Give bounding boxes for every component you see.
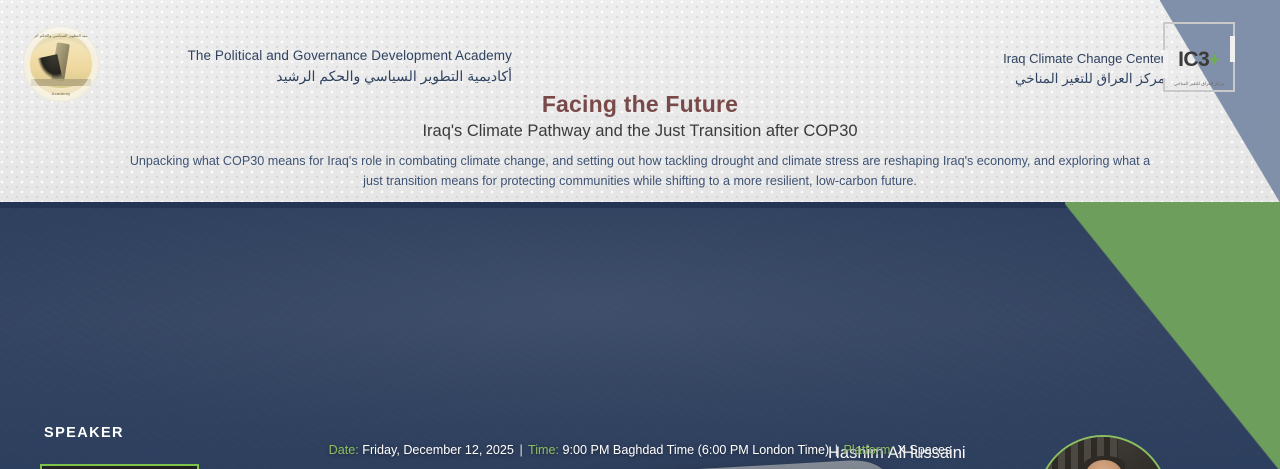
poster-header: أكاديمية التطوير السياسي والحكم الرشيد A… — [0, 0, 1280, 202]
ic3-plus-sign: + — [1209, 50, 1220, 71]
detail-separator: | — [833, 443, 840, 457]
center-name-block: Iraq Climate Change Center مركز العراق ل… — [865, 50, 1165, 88]
ic3-logo-subtitle: مركز العراق للتغير المناخي — [1163, 81, 1235, 87]
event-subtitle: Iraq's Climate Pathway and the Just Tran… — [0, 122, 1280, 141]
date-label: Date: — [329, 443, 359, 457]
ic3-mark-text: IC3 — [1178, 48, 1209, 71]
event-title: Facing the Future — [0, 91, 1280, 118]
time-value: 9:00 PM Baghdad Time (6:00 PM London Tim… — [563, 443, 830, 457]
boat-illustration — [328, 458, 891, 469]
academy-name-block: The Political and Governance Development… — [112, 47, 512, 87]
speaker-label: SPEAKER — [44, 425, 124, 441]
date-value: Friday, December 12, 2025 — [362, 443, 514, 457]
event-poster: أكاديمية التطوير السياسي والحكم الرشيد A… — [0, 0, 1280, 469]
poster-banner: SPEAKER IRAQ Yousif Muayad Yousif Direct… — [0, 202, 1280, 469]
speaker-photo: IRAQ — [40, 464, 199, 469]
academy-name-ar: أكاديمية التطوير السياسي والحكم الرشيد — [112, 66, 512, 86]
detail-separator: | — [517, 443, 524, 457]
event-details-line: Date: Friday, December 12, 2025 | Time: … — [0, 443, 1280, 457]
time-label: Time: — [528, 443, 559, 457]
platform-label: Platform: — [844, 443, 894, 457]
green-diagonal-wedge — [1065, 202, 1280, 469]
center-name-ar: مركز العراق للتغير المناخي — [865, 69, 1165, 89]
academy-name-en: The Political and Governance Development… — [112, 47, 512, 65]
event-description: Unpacking what COP30 means for Iraq's ro… — [120, 152, 1160, 191]
ic3-plus-logo-icon: IC3+ مركز العراق للتغير المناخي — [1163, 22, 1235, 92]
platform-value: X Spaces — [897, 443, 951, 457]
center-name-en: Iraq Climate Change Center — [865, 50, 1165, 68]
